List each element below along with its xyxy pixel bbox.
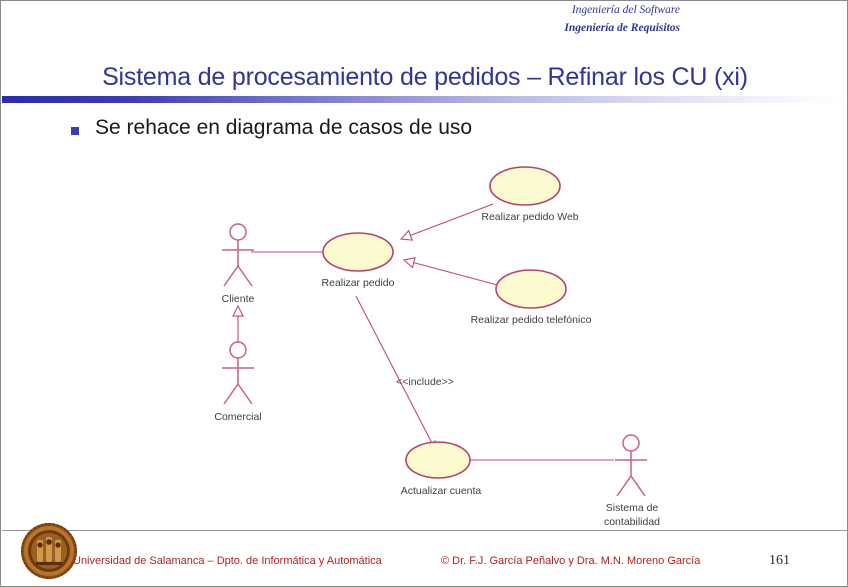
uc-realizar-pedido-telefonico[interactable]: Realizar pedido telefónico: [471, 270, 592, 326]
footer-copyright: © Dr. F.J. García Peñalvo y Dra. M.N. Mo…: [441, 555, 700, 567]
actor-cliente[interactable]: [222, 224, 254, 286]
uc-realizar-pedido-label: Realizar pedido: [322, 277, 395, 289]
footer-institution: Universidad de Salamanca – Dpto. de Info…: [73, 555, 382, 567]
header-subject-line-2: Ingeniería de Requisitos: [564, 22, 680, 34]
actor-sistema-leg-right: [631, 476, 645, 496]
uc-realizar-pedido-telefonico-label: Realizar pedido telefónico: [471, 314, 592, 326]
actor-cliente-leg-left: [224, 266, 238, 286]
page-title: Sistema de procesamiento de pedidos – Re…: [1, 63, 848, 92]
gen-pedido-telefonico-realizar-pedido: [404, 260, 501, 286]
footer-divider: [2, 530, 848, 531]
uc-actualizar-cuenta-ellipse: [406, 442, 470, 478]
actor-sistema-head: [623, 435, 639, 451]
uc-actualizar-cuenta-label: Actualizar cuenta: [401, 485, 482, 497]
use-case-diagram: Realizar pedido Realizar pedido Web Real…: [1, 156, 848, 531]
include-realizar-pedido-actualizar-cuenta: [356, 296, 435, 449]
actor-cliente-label: Cliente: [222, 293, 255, 305]
bullet-item: Se rehace en diagrama de casos de uso: [71, 116, 472, 140]
uc-realizar-pedido-web-label: Realizar pedido Web: [481, 211, 578, 223]
uc-realizar-pedido[interactable]: Realizar pedido: [322, 233, 395, 289]
title-underline-bar: [2, 96, 848, 103]
actor-comercial-leg-right: [238, 384, 252, 404]
uc-realizar-pedido-web-ellipse: [490, 167, 560, 205]
uc-realizar-pedido-ellipse: [323, 233, 393, 271]
uc-actualizar-cuenta[interactable]: Actualizar cuenta: [401, 442, 482, 497]
actor-sistema-label-line1: Sistema de: [606, 502, 659, 514]
actor-cliente-head: [230, 224, 246, 240]
actor-sistema-contabilidad[interactable]: [615, 435, 647, 496]
actor-comercial-head: [230, 342, 246, 358]
actor-sistema-label-line2: contabilidad: [604, 516, 660, 528]
page-number: 161: [769, 553, 790, 569]
gen-pedido-web-realizar-pedido: [401, 204, 493, 239]
include-stereotype-label: <<include>>: [396, 376, 454, 388]
actor-cliente-leg-right: [238, 266, 252, 286]
universidad-de-salamanca-seal-logo: [19, 520, 79, 582]
bullet-item-label: Se rehace en diagrama de casos de uso: [95, 116, 472, 140]
actor-comercial-leg-left: [224, 384, 238, 404]
square-bullet-icon: [71, 127, 79, 135]
actor-comercial[interactable]: [222, 342, 254, 404]
uc-realizar-pedido-web[interactable]: Realizar pedido Web: [481, 167, 578, 223]
actor-comercial-label: Comercial: [214, 411, 261, 423]
uc-realizar-pedido-telefonico-ellipse: [496, 270, 566, 308]
slide: Ingeniería del Software Ingeniería de Re…: [0, 0, 848, 587]
header-subject-line-1: Ingeniería del Software: [572, 4, 680, 16]
actor-sistema-leg-left: [617, 476, 631, 496]
